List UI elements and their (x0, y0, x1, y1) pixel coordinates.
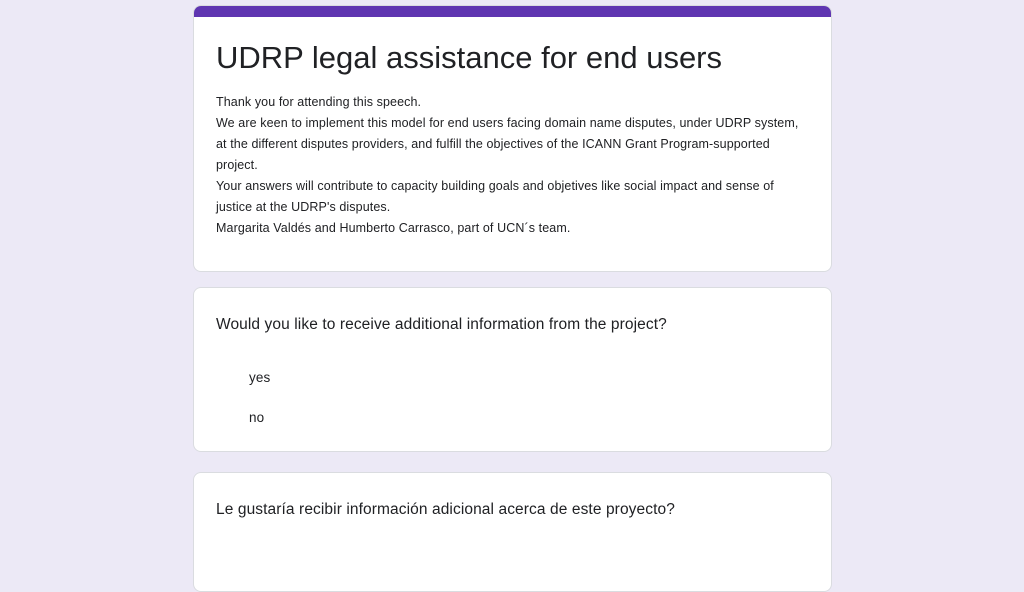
question-card-2: Le gustaría recibir información adiciona… (193, 472, 832, 592)
form-header-body: UDRP legal assistance for end users Than… (194, 17, 831, 239)
options-list-1: yes no (216, 336, 809, 438)
option-label-yes: yes (249, 368, 270, 388)
question-title-2: Le gustaría recibir información adiciona… (216, 497, 809, 521)
form-description: Thank you for attending this speech. We … (216, 78, 809, 239)
page-title: UDRP legal assistance for end users (216, 33, 809, 78)
option-row-no[interactable]: no (216, 398, 809, 438)
question-title-1: Would you like to receive additional inf… (216, 312, 809, 336)
option-label-no: no (249, 408, 264, 428)
form-column: UDRP legal assistance for end users Than… (193, 5, 832, 592)
google-form-page: UDRP legal assistance for end users Than… (0, 0, 1024, 537)
option-row-yes[interactable]: yes (216, 358, 809, 398)
question-card-1: Would you like to receive additional inf… (193, 287, 832, 452)
form-header-card: UDRP legal assistance for end users Than… (193, 5, 832, 272)
form-header-accent-stripe (194, 6, 831, 17)
